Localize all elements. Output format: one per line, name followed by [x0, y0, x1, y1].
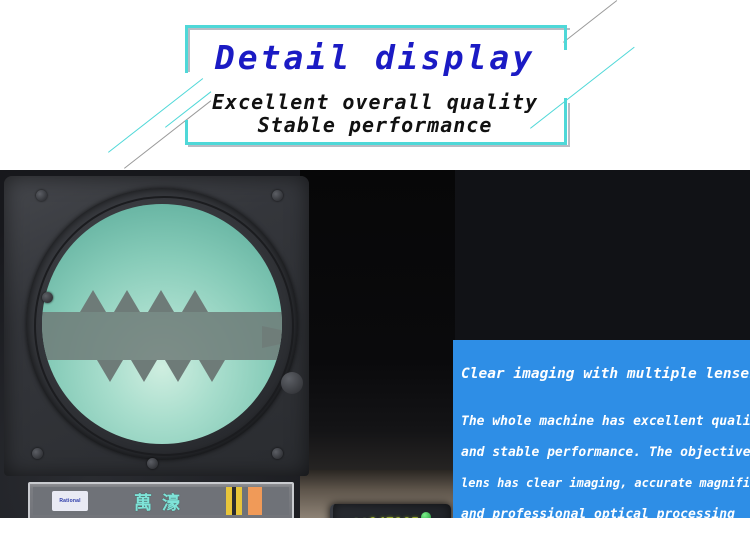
- panel-screw: [272, 448, 283, 459]
- description-line: and professional optical processing: [461, 499, 747, 518]
- panel-screw: [32, 448, 43, 459]
- panel-screw: [42, 292, 53, 303]
- panel-screw: [272, 190, 283, 201]
- description-line: and stable performance. The objective: [461, 437, 747, 468]
- page-title: Detail display: [0, 38, 750, 77]
- photo-background-dark: [300, 170, 455, 518]
- header-banner: Detail display Excellent overall quality…: [0, 0, 750, 170]
- product-photo: Rational 萬濠 X 88147185 Y 88219885: [0, 170, 750, 518]
- projector-front-panel: [4, 176, 309, 476]
- subtitle-line-1: Excellent overall quality: [0, 90, 750, 114]
- decor-diagonal-right-gray: [563, 0, 617, 43]
- digital-readout-unit[interactable]: X 88147185 Y 88219885 Z 88889029 mm 1/2 …: [330, 504, 451, 518]
- machine-base-plate: Rational 萬濠: [28, 482, 294, 518]
- thread-tooth-down: [97, 360, 123, 382]
- screen-rotation-knob[interactable]: [281, 372, 303, 394]
- description-line: lens has clear imaging, accurate magnifi…: [461, 468, 747, 499]
- panel-screw: [36, 190, 47, 201]
- frame-shadow-top: [188, 28, 570, 30]
- subtitle-line-2: Stable performance: [0, 113, 750, 137]
- profile-projector-machine: Rational 萬濠: [0, 170, 455, 518]
- thread-tooth-up: [182, 290, 208, 312]
- rational-logo: Rational: [52, 491, 88, 511]
- workpiece-tip: [262, 326, 282, 348]
- description-line: The whole machine has excellent quality: [461, 406, 747, 437]
- thread-tooth-up: [114, 290, 140, 312]
- page-root: Detail display Excellent overall quality…: [0, 0, 750, 535]
- description-panel: Clear imaging with multiple lenses The w…: [453, 340, 750, 518]
- panel-screw: [147, 458, 158, 469]
- description-heading: Clear imaging with multiple lenses: [461, 366, 746, 382]
- color-bar-orange: [248, 487, 262, 515]
- bottom-white-strip: [0, 518, 750, 535]
- thread-tooth-up: [148, 290, 174, 312]
- thread-tooth-down: [165, 360, 191, 382]
- rational-logo-text: Rational: [59, 498, 80, 504]
- base-plate-chinese-text: 萬濠: [134, 489, 190, 515]
- projection-screen: [42, 204, 282, 444]
- frame-shadow-bottom: [188, 145, 570, 147]
- frame-top-edge: [185, 25, 567, 28]
- description-body: The whole machine has excellent quality …: [461, 406, 747, 518]
- color-bar-yellow-2: [236, 487, 242, 515]
- frame-bottom-edge: [185, 142, 567, 145]
- workpiece-silhouette: [42, 312, 282, 360]
- thread-tooth-down: [199, 360, 225, 382]
- thread-tooth-down: [131, 360, 157, 382]
- thread-tooth-up: [80, 290, 106, 312]
